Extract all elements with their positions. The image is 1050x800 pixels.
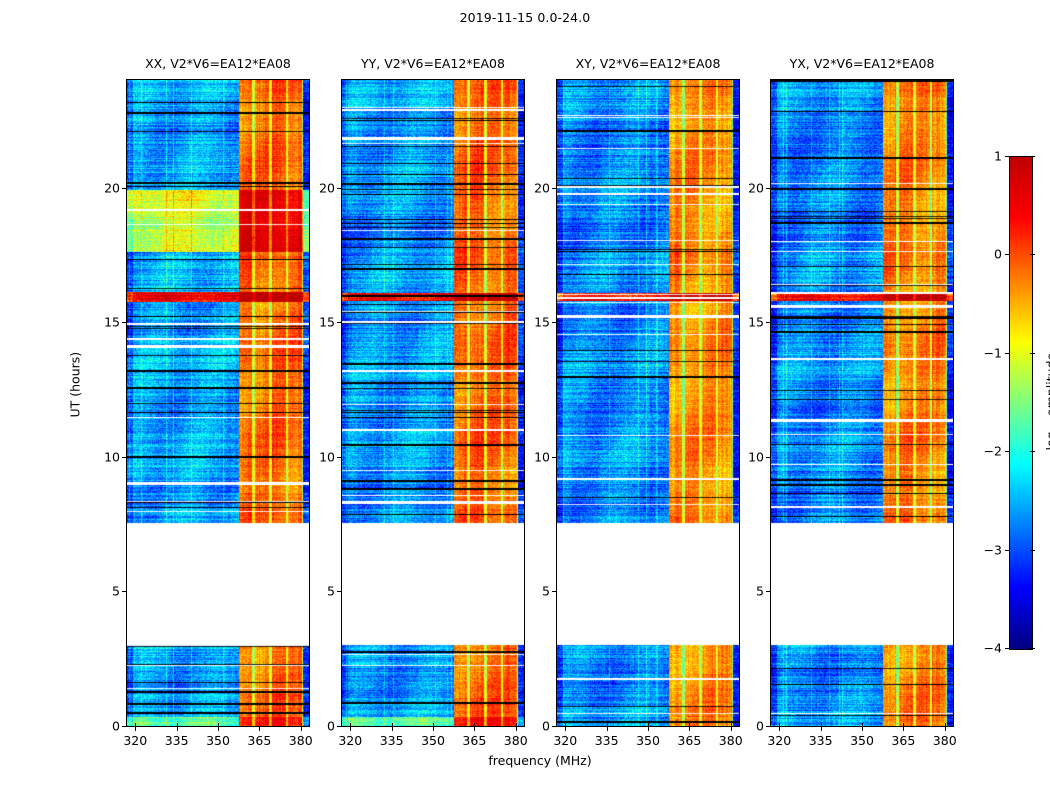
y-tick-label-yx-4: 20 — [748, 180, 764, 195]
y-tick-label-yx-1: 5 — [756, 584, 764, 599]
y-tick-yy-0 — [337, 726, 341, 727]
x-tick-inner-xx-2 — [218, 723, 219, 727]
axes-frame-xx — [126, 79, 310, 727]
colorbar-tick-label-4: −3 — [984, 542, 1002, 557]
y-tick-yy-3 — [337, 322, 341, 323]
colorbar-tick-4 — [1005, 550, 1010, 551]
x-tick-xx-1 — [177, 727, 178, 731]
x-tick-yy-0 — [350, 727, 351, 731]
x-tick-label-xx-4: 380 — [289, 733, 313, 748]
x-tick-label-xx-1: 335 — [165, 733, 189, 748]
colorbar-tick-0 — [1005, 156, 1010, 157]
y-tick-label-yy-2: 10 — [319, 449, 335, 464]
x-tick-inner-xy-0 — [565, 723, 566, 727]
y-tick-yx-1 — [766, 591, 770, 592]
colorbar-tick-label-5: −4 — [984, 641, 1002, 656]
y-tick-xx-1 — [122, 591, 126, 592]
y-tick-yx-4 — [766, 188, 770, 189]
x-tick-inner-yx-3 — [903, 723, 904, 727]
colorbar-tick-right-4 — [1030, 550, 1035, 551]
y-tick-label-yy-1: 5 — [327, 584, 335, 599]
x-tick-yx-2 — [862, 727, 863, 731]
y-tick-xx-3 — [122, 322, 126, 323]
x-tick-inner-yx-4 — [945, 723, 946, 727]
y-tick-xy-2 — [552, 457, 556, 458]
x-tick-xx-2 — [218, 727, 219, 731]
x-tick-yy-2 — [433, 727, 434, 731]
x-tick-inner-yx-2 — [862, 723, 863, 727]
colorbar-tick-1 — [1005, 254, 1010, 255]
x-tick-yy-4 — [516, 727, 517, 731]
x-tick-yx-3 — [903, 727, 904, 731]
colorbar-gradient — [1009, 156, 1033, 650]
subplot-title-xy: XY, V2*V6=EA12*EA08 — [576, 56, 721, 71]
subplot-xy[interactable]: XY, V2*V6=EA12*EA08320335350365380051015… — [556, 79, 740, 727]
x-tick-label-xx-2: 350 — [206, 733, 230, 748]
y-tick-xy-0 — [552, 726, 556, 727]
y-tick-label-xx-4: 20 — [104, 180, 120, 195]
x-tick-yx-0 — [779, 727, 780, 731]
x-tick-yy-1 — [392, 727, 393, 731]
x-tick-label-xy-0: 320 — [553, 733, 577, 748]
x-tick-label-xy-4: 380 — [719, 733, 743, 748]
y-tick-label-xx-2: 10 — [104, 449, 120, 464]
x-tick-inner-xx-0 — [135, 723, 136, 727]
y-tick-xy-3 — [552, 322, 556, 323]
x-tick-inner-yy-3 — [474, 723, 475, 727]
y-tick-yx-0 — [766, 726, 770, 727]
y-axis-label: UT (hours) — [68, 384, 83, 418]
y-tick-yy-4 — [337, 188, 341, 189]
subplot-xx[interactable]: XX, V2*V6=EA12*EA08320335350365380051015… — [126, 79, 310, 727]
x-tick-label-xx-0: 320 — [123, 733, 147, 748]
subplot-yx[interactable]: YX, V2*V6=EA12*EA08320335350365380051015… — [770, 79, 954, 727]
x-tick-xy-2 — [648, 727, 649, 731]
y-tick-label-xy-0: 0 — [542, 719, 550, 734]
colorbar-tick-2 — [1005, 353, 1010, 354]
y-tick-label-yy-3: 15 — [319, 315, 335, 330]
axes-frame-xy — [556, 79, 740, 727]
x-tick-label-yx-4: 380 — [933, 733, 957, 748]
colorbar-tick-label-2: −1 — [984, 345, 1002, 360]
x-tick-label-yy-2: 350 — [421, 733, 445, 748]
x-tick-yy-3 — [474, 727, 475, 731]
x-tick-label-xx-3: 365 — [247, 733, 271, 748]
subplot-yy[interactable]: YY, V2*V6=EA12*EA08320335350365380051015… — [341, 79, 525, 727]
x-tick-label-yx-0: 320 — [767, 733, 791, 748]
y-tick-label-xy-3: 15 — [534, 315, 550, 330]
y-tick-yy-2 — [337, 457, 341, 458]
x-tick-label-yx-3: 365 — [891, 733, 915, 748]
x-tick-inner-yy-2 — [433, 723, 434, 727]
subplot-title-xx: XX, V2*V6=EA12*EA08 — [145, 56, 291, 71]
figure-suptitle: 2019-11-15 0.0-24.0 — [0, 10, 1050, 25]
subplot-title-yx: YX, V2*V6=EA12*EA08 — [790, 56, 935, 71]
x-tick-inner-yx-1 — [821, 723, 822, 727]
x-tick-inner-xy-4 — [731, 723, 732, 727]
y-tick-label-yy-0: 0 — [327, 719, 335, 734]
y-tick-label-yx-2: 10 — [748, 449, 764, 464]
colorbar-tick-right-0 — [1030, 156, 1035, 157]
colorbar-tick-5 — [1005, 648, 1010, 649]
x-tick-xy-4 — [731, 727, 732, 731]
colorbar-tick-label-0: 1 — [994, 149, 1002, 164]
y-tick-xy-1 — [552, 591, 556, 592]
y-tick-label-yx-3: 15 — [748, 315, 764, 330]
colorbar-label: log10 amplitude — [1043, 342, 1050, 462]
x-tick-label-yy-4: 380 — [504, 733, 528, 748]
x-tick-inner-xx-4 — [301, 723, 302, 727]
x-tick-xy-1 — [607, 727, 608, 731]
x-axis-label: frequency (MHz) — [126, 753, 954, 768]
x-tick-xy-0 — [565, 727, 566, 731]
x-tick-xx-4 — [301, 727, 302, 731]
axes-frame-yy — [341, 79, 525, 727]
x-tick-label-yx-2: 350 — [850, 733, 874, 748]
figure-canvas: 2019-11-15 0.0-24.0 XX, V2*V6=EA12*EA083… — [0, 0, 1050, 800]
y-tick-label-yy-4: 20 — [319, 180, 335, 195]
x-tick-inner-yy-0 — [350, 723, 351, 727]
colorbar-tick-right-5 — [1030, 648, 1035, 649]
y-tick-label-xy-4: 20 — [534, 180, 550, 195]
y-tick-label-xx-3: 15 — [104, 315, 120, 330]
x-tick-label-yy-0: 320 — [338, 733, 362, 748]
colorbar-tick-right-1 — [1030, 254, 1035, 255]
axes-frame-yx — [770, 79, 954, 727]
colorbar-tick-right-3 — [1030, 451, 1035, 452]
y-tick-label-xy-2: 10 — [534, 449, 550, 464]
y-tick-xx-4 — [122, 188, 126, 189]
y-tick-xx-2 — [122, 457, 126, 458]
x-tick-inner-xy-3 — [689, 723, 690, 727]
colorbar-tick-label-1: 0 — [994, 247, 1002, 262]
y-tick-label-xy-1: 5 — [542, 584, 550, 599]
colorbar-label-suffix: amplitude — [1043, 353, 1050, 420]
y-tick-yy-1 — [337, 591, 341, 592]
colorbar[interactable]: 10−1−2−3−4 — [1009, 156, 1031, 648]
colorbar-label-prefix: log — [1043, 431, 1050, 450]
x-tick-xx-3 — [259, 727, 260, 731]
colorbar-tick-3 — [1005, 451, 1010, 452]
y-tick-label-xx-0: 0 — [112, 719, 120, 734]
x-tick-yx-4 — [945, 727, 946, 731]
y-tick-yx-3 — [766, 322, 770, 323]
x-tick-inner-xx-1 — [177, 723, 178, 727]
x-tick-yx-1 — [821, 727, 822, 731]
y-tick-xx-0 — [122, 726, 126, 727]
x-tick-inner-xx-3 — [259, 723, 260, 727]
y-tick-label-xx-1: 5 — [112, 584, 120, 599]
x-tick-inner-xy-1 — [607, 723, 608, 727]
x-tick-label-yy-1: 335 — [380, 733, 404, 748]
x-tick-xy-3 — [689, 727, 690, 731]
colorbar-tick-label-3: −2 — [984, 444, 1002, 459]
subplot-title-yy: YY, V2*V6=EA12*EA08 — [361, 56, 505, 71]
y-tick-xy-4 — [552, 188, 556, 189]
x-tick-label-xy-3: 365 — [677, 733, 701, 748]
x-tick-label-yx-1: 335 — [809, 733, 833, 748]
y-tick-yx-2 — [766, 457, 770, 458]
x-tick-inner-yy-4 — [516, 723, 517, 727]
x-tick-label-xy-2: 350 — [636, 733, 660, 748]
y-tick-label-yx-0: 0 — [756, 719, 764, 734]
x-tick-inner-xy-2 — [648, 723, 649, 727]
colorbar-tick-right-2 — [1030, 353, 1035, 354]
x-tick-inner-yy-1 — [392, 723, 393, 727]
x-tick-label-xy-1: 335 — [595, 733, 619, 748]
x-tick-xx-0 — [135, 727, 136, 731]
x-tick-label-yy-3: 365 — [462, 733, 486, 748]
x-tick-inner-yx-0 — [779, 723, 780, 727]
